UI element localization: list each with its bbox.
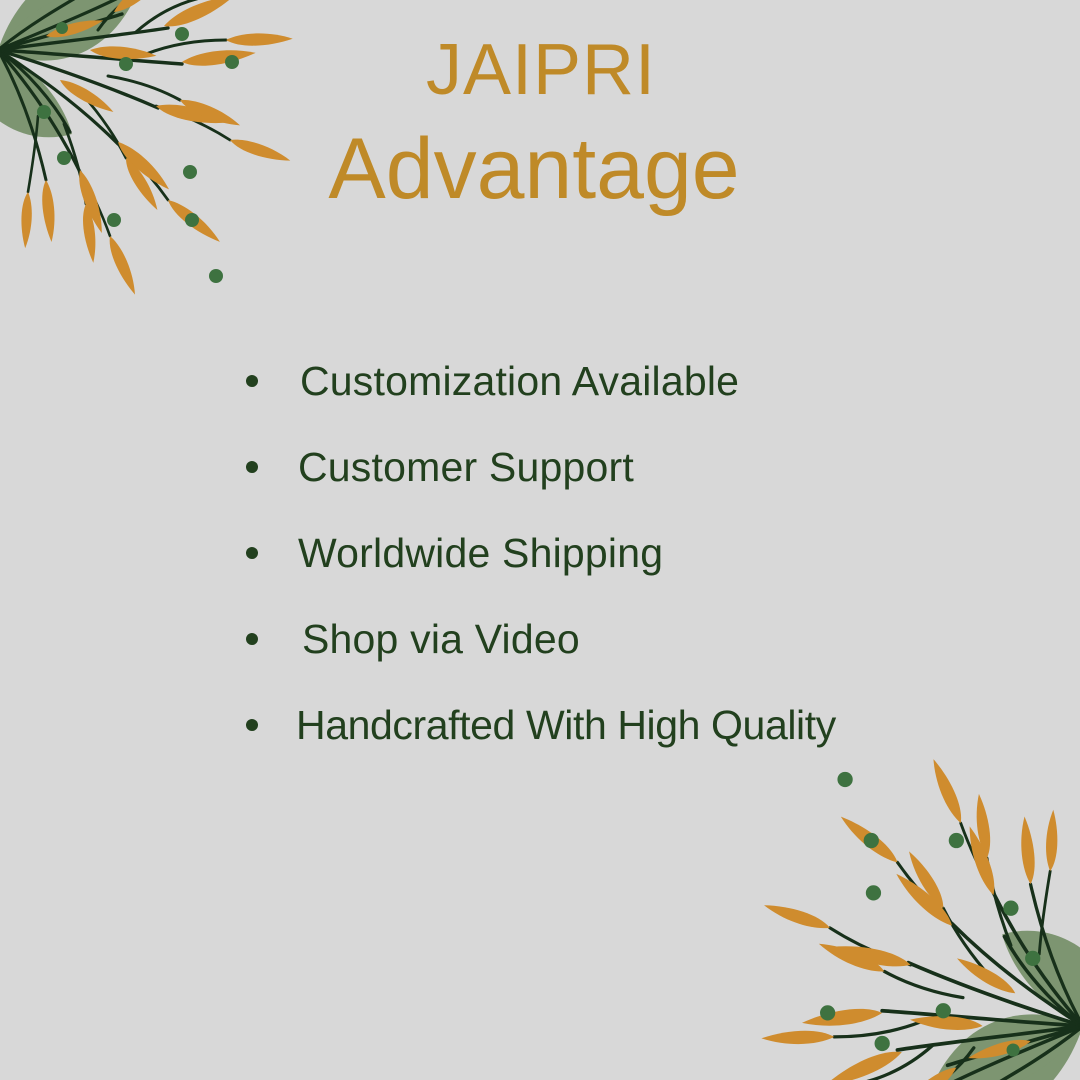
- advantage-label: Customer Support: [298, 444, 634, 491]
- brand-name: JAIPRI: [2, 34, 1080, 106]
- title-subline: Advantage: [0, 126, 1080, 212]
- bullet-dot-icon: [246, 633, 258, 645]
- list-item: Worldwide Shipping: [246, 510, 1006, 596]
- bullet-dot-icon: [246, 375, 258, 387]
- bullet-dot-icon: [246, 719, 258, 731]
- list-item: Handcrafted With High Quality: [246, 682, 1006, 768]
- advantage-label: Handcrafted With High Quality: [296, 702, 836, 749]
- list-item: Customization Available: [246, 338, 1006, 424]
- advantage-label: Worldwide Shipping: [298, 530, 663, 577]
- botanical-branch-icon-bottom-right: [736, 738, 1080, 1080]
- poster-canvas: JAIPRI Advantage Customization Available…: [0, 0, 1080, 1080]
- page-title: JAIPRI Advantage: [0, 34, 1080, 212]
- bullet-dot-icon: [246, 461, 258, 473]
- advantage-list: Customization Available Customer Support…: [246, 338, 1006, 768]
- advantage-label: Shop via Video: [302, 616, 580, 663]
- bullet-dot-icon: [246, 547, 258, 559]
- list-item: Customer Support: [246, 424, 1006, 510]
- list-item: Shop via Video: [246, 596, 1006, 682]
- advantage-label: Customization Available: [300, 358, 739, 405]
